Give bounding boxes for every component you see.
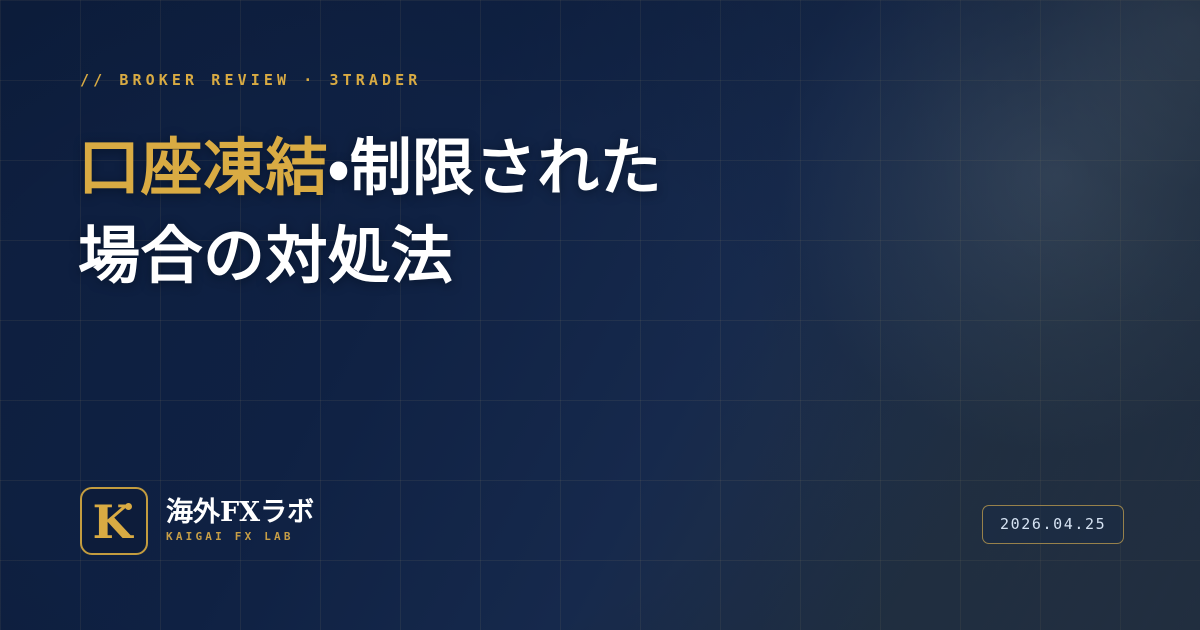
ogp-hero-card: // BROKER REVIEW · 3TRADER 口座凍結・制限された 場合… bbox=[0, 0, 1200, 630]
card-content: // BROKER REVIEW · 3TRADER 口座凍結・制限された 場合… bbox=[0, 0, 1200, 630]
brand-text-block: 海外FXラボ KAIGAI FX LAB bbox=[166, 499, 314, 543]
brand-monogram-k-icon: K bbox=[82, 489, 146, 553]
brand-logo-badge: K bbox=[80, 487, 148, 555]
publish-date-badge: 2026.04.25 bbox=[982, 505, 1124, 544]
brand-dot-icon bbox=[125, 503, 132, 510]
brand-name: 海外FXラボ bbox=[166, 499, 314, 527]
title-line-1-rest: ・制限された bbox=[328, 131, 662, 204]
brand-lockup: K 海外FXラボ KAIGAI FX LAB bbox=[80, 487, 314, 555]
page-title: 口座凍結・制限された 場合の対処法 bbox=[78, 124, 958, 300]
title-line-1: 口座凍結・制限された bbox=[78, 124, 958, 212]
brand-romaji: KAIGAI FX LAB bbox=[166, 530, 314, 543]
title-accent-phrase: 口座凍結 bbox=[78, 131, 328, 204]
eyebrow-label: // BROKER REVIEW · 3TRADER bbox=[80, 71, 421, 89]
title-line-2: 場合の対処法 bbox=[78, 212, 958, 300]
